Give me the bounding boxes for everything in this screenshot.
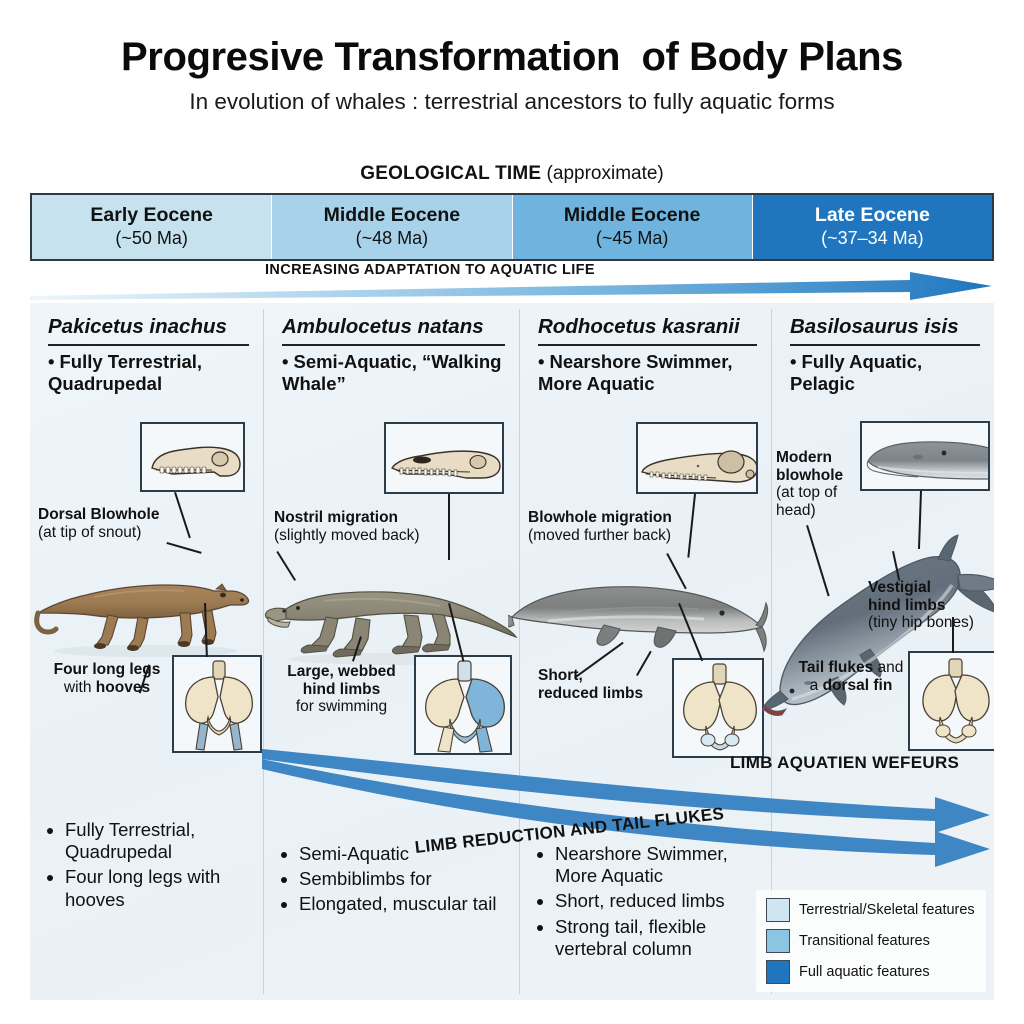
legend-swatch — [766, 929, 790, 953]
legend-item-transitional: Transitional features — [766, 929, 978, 953]
pelvis-inset-basilosaurus — [908, 651, 994, 751]
title-block: Progresive Transformation of Body Plans … — [0, 36, 1024, 115]
species-lead-bullet: •Fully Terrestrial, Quadrupedal — [48, 351, 253, 395]
pakicetus-skull-icon — [142, 424, 245, 492]
list-item: Four long legs with hooves — [65, 866, 255, 910]
species-column-pakicetus: Pakicetus inachus •Fully Terrestrial, Qu… — [30, 303, 263, 1000]
pelvis-inset-pakicetus — [172, 655, 262, 753]
legend-swatch — [766, 960, 790, 984]
species-panel: Pakicetus inachus •Fully Terrestrial, Qu… — [30, 303, 994, 1000]
list-item: Elongated, muscular tail — [299, 893, 511, 915]
callout-detail: (moved further back) — [528, 527, 671, 544]
pelvis-inset-rodhocetus — [672, 658, 764, 758]
skull-inset-rodhocetus — [636, 422, 758, 494]
legend-item-terrestrial: Terrestrial/Skeletal features — [766, 898, 978, 922]
bullet-dot: • — [282, 351, 288, 373]
timeline-age-label: (~37–34 Ma) — [821, 228, 924, 249]
species-name: Rodhocetus kasranii — [538, 315, 757, 346]
pelvis-icon — [416, 657, 512, 755]
bullet-dot: • — [538, 351, 544, 373]
callout-title: Tail flukes and — [799, 659, 904, 676]
pakicetus-illustration — [34, 551, 259, 661]
species-lead-text: Fully Aquatic, Pelagic — [790, 351, 922, 394]
callout-short-limbs: Short,reduced limbs — [538, 667, 678, 702]
callout-title: Dorsal Blowhole — [38, 506, 159, 523]
geological-time-note: (approximate) — [547, 163, 664, 184]
timeline-era-label: Late Eocene — [815, 204, 930, 227]
pelvis-icon — [674, 660, 764, 758]
summary-bullets-rodhocetus: Nearshore Swimmer, More Aquatic Short, r… — [536, 843, 763, 963]
callout-blowhole-migration: Blowhole migration (moved further back) — [528, 509, 708, 544]
skull-inset-ambulocetus — [384, 422, 504, 494]
geological-time-label: GEOLOGICAL TIME — [360, 163, 541, 184]
callout-four-legs: Four long legs with hooves — [42, 661, 172, 696]
callout-detail: a dorsal fin — [810, 677, 893, 694]
callout-detail: for swimming — [296, 698, 387, 715]
species-column-rodhocetus: Rodhocetus kasranii •Nearshore Swimmer, … — [520, 303, 771, 1000]
callout-dorsal-blowhole: Dorsal Blowhole (at tip of snout) — [38, 506, 188, 541]
species-lead-text: Fully Terrestrial, Quadrupedal — [48, 351, 202, 394]
basilosaurus-head-icon — [862, 423, 990, 491]
callout-vestigial-limbs: Vestigialhind limbs (tiny hip bones) — [868, 579, 994, 632]
list-item: Sembiblimbs for — [299, 868, 511, 890]
timeline-era-label: Middle Eocene — [324, 204, 461, 227]
callout-title: Blowhole migration — [528, 509, 672, 526]
list-item: Short, reduced limbs — [555, 890, 763, 912]
legend: Terrestrial/Skeletal features Transition… — [756, 890, 986, 992]
timeline-age-label: (~48 Ma) — [356, 228, 429, 249]
page-subtitle: In evolution of whales : terrestrial anc… — [0, 90, 1024, 115]
arrow-label-aquatic: LIMB AQUATIEN WEFEURS — [730, 753, 959, 773]
list-item: Nearshore Swimmer, More Aquatic — [555, 843, 763, 887]
callout-nostril-migration: Nostril migration (slightly moved back) — [274, 509, 459, 544]
timeline-era-label: Middle Eocene — [564, 204, 701, 227]
page-title: Progresive Transformation of Body Plans — [0, 36, 1024, 78]
timeline-cell-late-eocene[interactable]: Late Eocene (~37–34 Ma) — [753, 195, 992, 259]
skull-inset-pakicetus — [140, 422, 245, 492]
adaptation-arrow-label: INCREASING ADAPTATION TO AQUATIC LIFE — [30, 262, 830, 278]
legend-label: Terrestrial/Skeletal features — [799, 902, 975, 918]
pelvis-icon — [174, 657, 262, 753]
bullet-dot: • — [790, 351, 796, 373]
callout-detail: (tiny hip bones) — [868, 614, 974, 631]
timeline-era-label: Early Eocene — [90, 204, 212, 227]
callout-title: Modernblowhole — [776, 449, 843, 484]
callout-detail: (slightly moved back) — [274, 527, 420, 544]
geological-timeline: Early Eocene (~50 Ma) Middle Eocene (~48… — [30, 193, 994, 261]
callout-title: Vestigialhind limbs — [868, 579, 946, 614]
timeline-cell-early-eocene[interactable]: Early Eocene (~50 Ma) — [32, 195, 272, 259]
species-lead-text: Nearshore Swimmer, More Aquatic — [538, 351, 733, 394]
species-lead-bullet: •Fully Aquatic, Pelagic — [790, 351, 984, 395]
rodhocetus-illustration — [508, 565, 770, 673]
legend-item-full-aquatic: Full aquatic features — [766, 960, 978, 984]
callout-hind-limbs: Large, webbedhind limbs for swimming — [274, 663, 409, 716]
leader-line — [952, 617, 954, 653]
timeline-cell-middle-eocene-48[interactable]: Middle Eocene (~48 Ma) — [272, 195, 512, 259]
rodhocetus-skull-icon — [638, 424, 758, 494]
species-lead-bullet: •Nearshore Swimmer, More Aquatic — [538, 351, 761, 395]
callout-detail: (at tip of snout) — [38, 524, 141, 541]
callout-detail: with hooves — [64, 679, 150, 696]
species-name: Pakicetus inachus — [48, 315, 249, 346]
list-item: Fully Terrestrial, Quadrupedal — [65, 819, 255, 863]
callout-tail-flukes: Tail flukes and a dorsal fin — [786, 659, 916, 694]
callout-title: Short,reduced limbs — [538, 667, 643, 702]
timeline-age-label: (~45 Ma) — [596, 228, 669, 249]
bullet-dot: • — [48, 351, 54, 373]
species-name: Ambulocetus natans — [282, 315, 505, 346]
legend-swatch — [766, 898, 790, 922]
pelvis-inset-ambulocetus — [414, 655, 512, 755]
timeline-age-label: (~50 Ma) — [115, 228, 188, 249]
summary-bullets-ambulocetus: Semi-Aquatic Sembiblimbs for Elongated, … — [280, 843, 511, 919]
adaptation-arrow-group: INCREASING ADAPTATION TO AQUATIC LIFE — [30, 262, 994, 302]
species-lead-bullet: •Semi-Aquatic, “Walking Whale” — [282, 351, 509, 395]
ambulocetus-skull-icon — [386, 424, 504, 494]
summary-bullets-pakicetus: Fully Terrestrial, Quadrupedal Four long… — [46, 819, 255, 914]
callout-title: Large, webbedhind limbs — [287, 663, 396, 698]
timeline-cell-middle-eocene-45[interactable]: Middle Eocene (~45 Ma) — [513, 195, 753, 259]
geological-time-heading: GEOLOGICAL TIME (approximate) — [0, 163, 1024, 185]
legend-label: Transitional features — [799, 933, 930, 949]
list-item: Strong tail, flexible vertebral column — [555, 916, 763, 960]
species-name: Basilosaurus isis — [790, 315, 980, 346]
species-column-ambulocetus: Ambulocetus natans •Semi-Aquatic, “Walki… — [264, 303, 519, 1000]
species-lead-text: Semi-Aquatic, “Walking Whale” — [282, 351, 501, 394]
legend-label: Full aquatic features — [799, 964, 930, 980]
callout-title: Nostril migration — [274, 509, 398, 526]
pelvis-icon — [910, 653, 994, 751]
callout-title: Four long legs — [54, 661, 161, 678]
